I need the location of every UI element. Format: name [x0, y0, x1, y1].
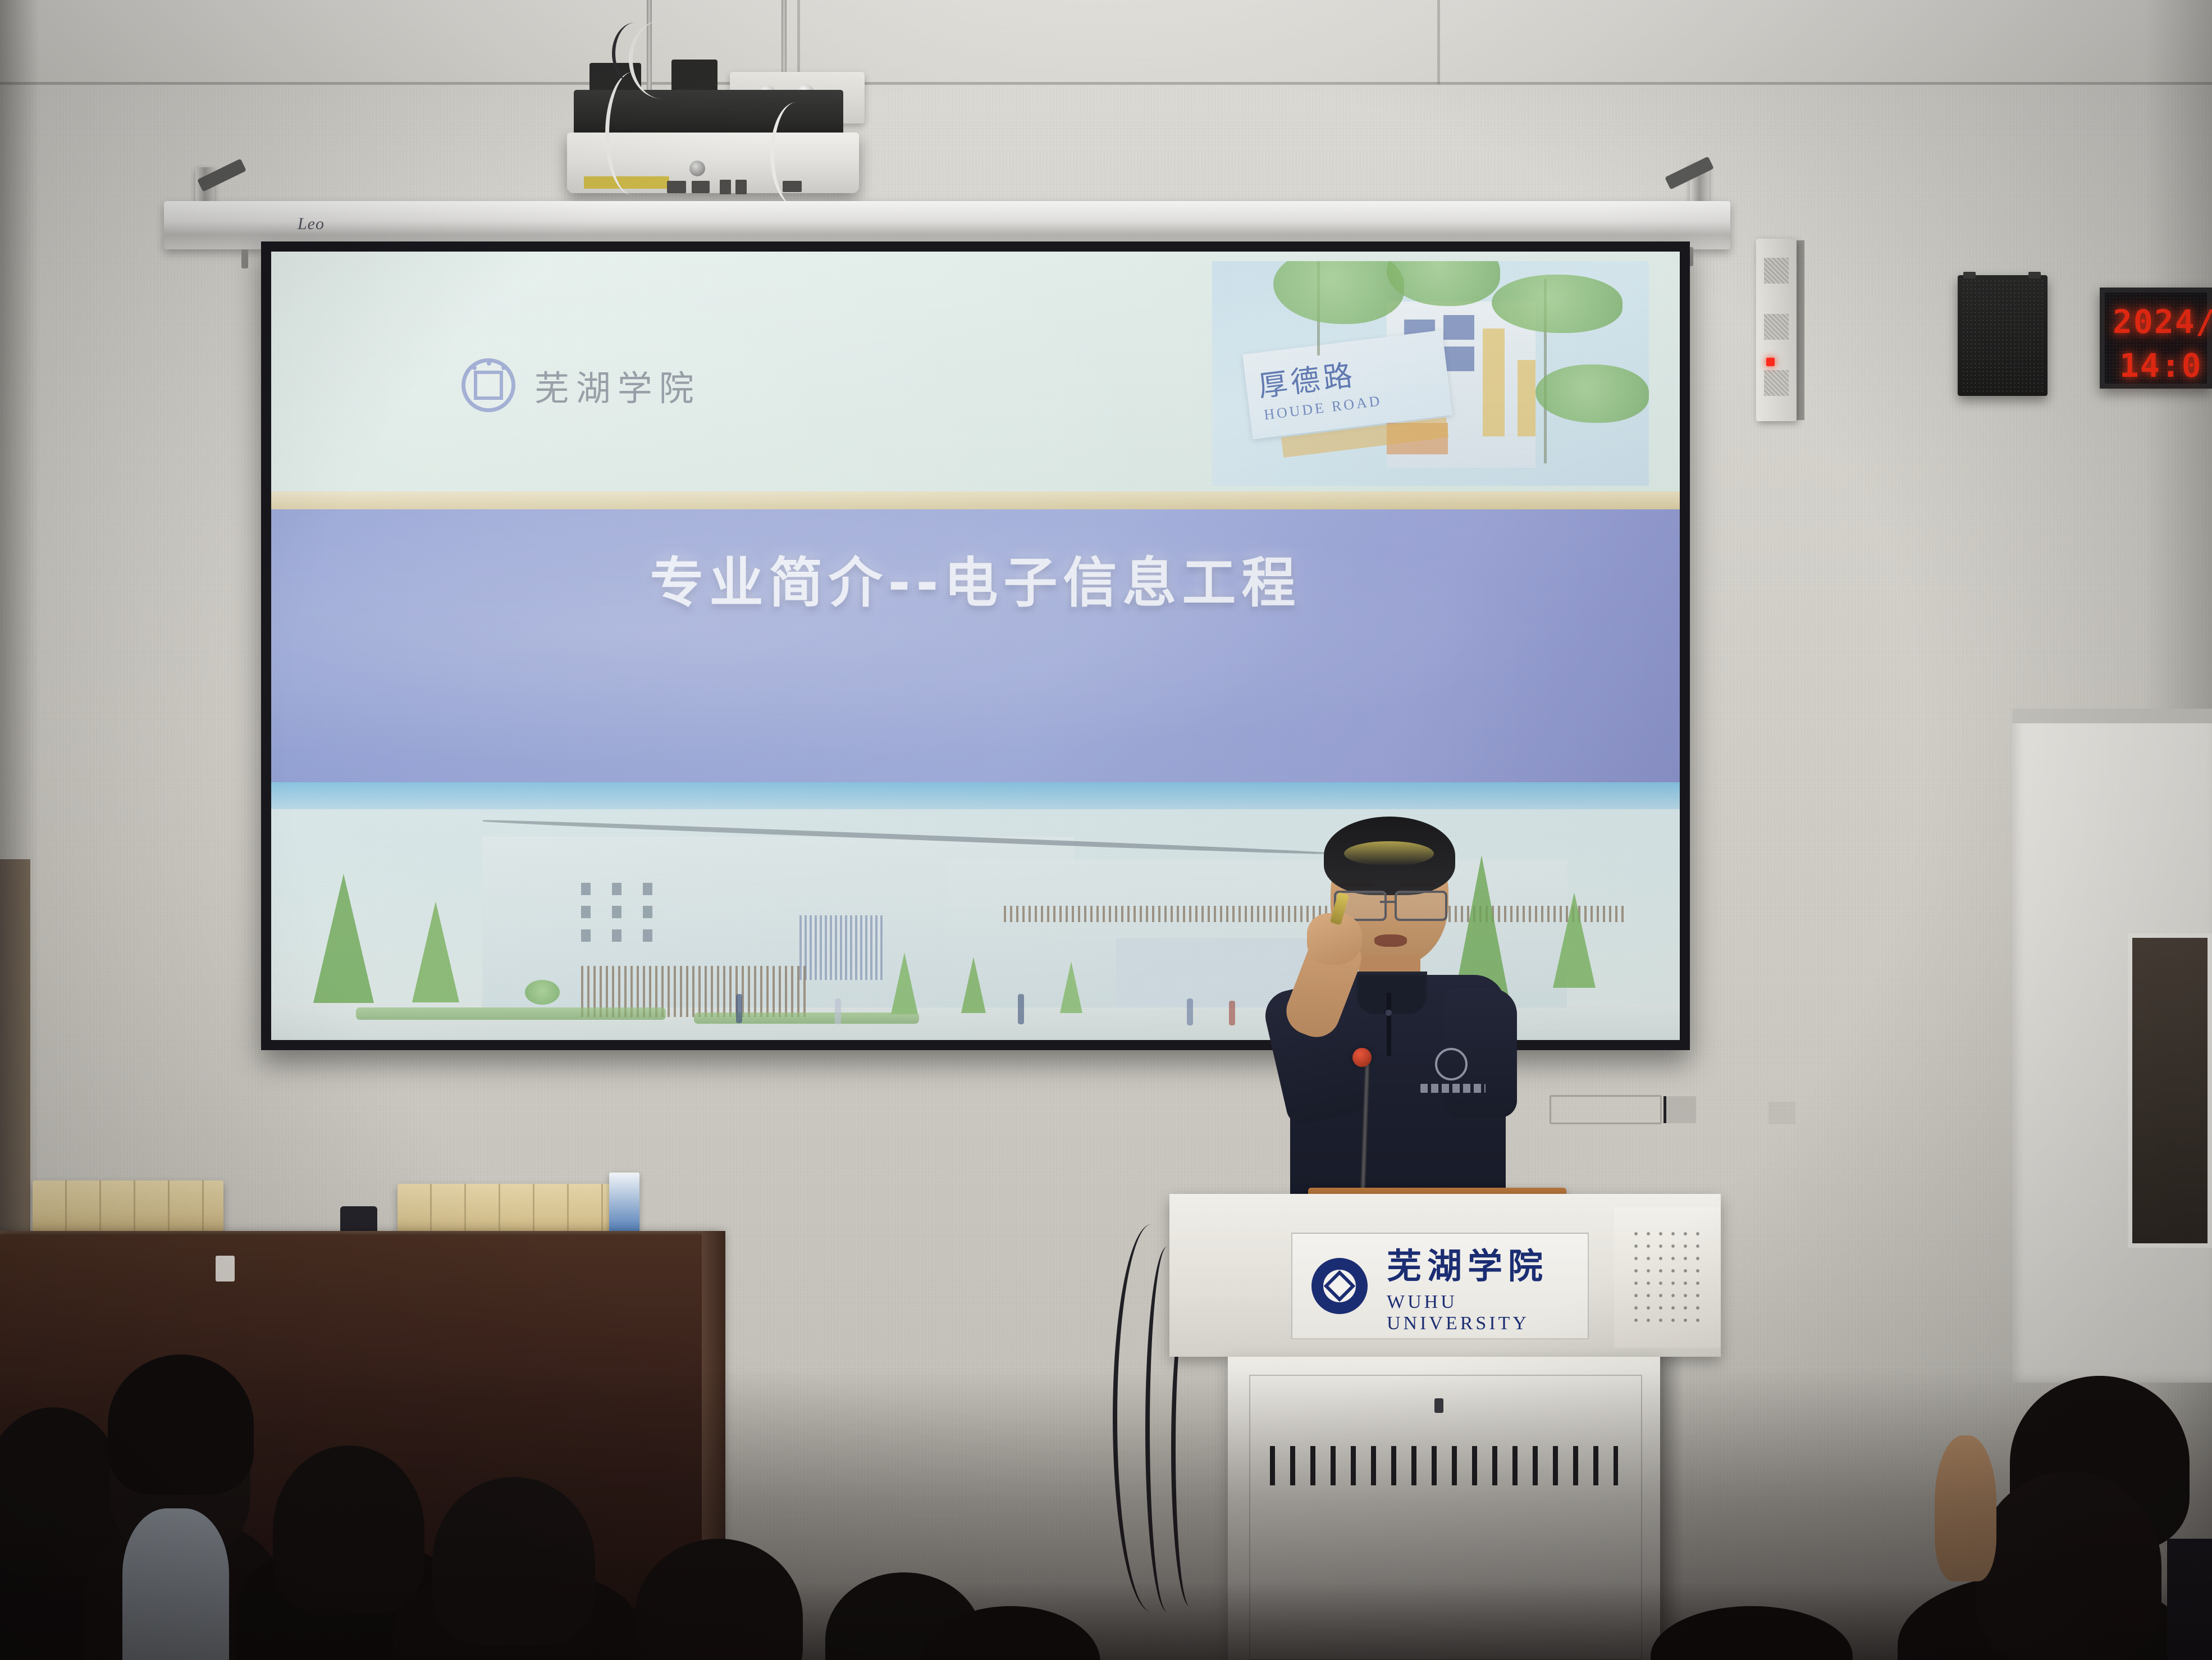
campus-window	[612, 906, 621, 918]
ceiling-seam	[0, 82, 2212, 85]
campus-window	[581, 883, 591, 895]
presenter-forehead-highlight	[1344, 841, 1434, 866]
speaker-mount-tab-right	[2028, 272, 2041, 279]
campus-conifer-5	[891, 952, 918, 1014]
campus-lattice-panel	[799, 915, 884, 980]
audience-member-torso	[2167, 1539, 2212, 1660]
projector-cable-dark	[612, 22, 659, 84]
alcove-lintel	[2012, 709, 2212, 723]
photo-tree-4	[1535, 364, 1649, 423]
photo-yellow-pole	[1483, 329, 1505, 436]
ceiling-band	[0, 0, 2212, 84]
presenter-shirt-emblem-text	[1420, 1084, 1486, 1093]
podium-university-emblem-icon	[1311, 1258, 1368, 1314]
status-led-icon	[1766, 358, 1775, 366]
projector-port-1	[667, 181, 686, 193]
projector-port-3	[720, 180, 731, 194]
campus-figure-3	[1018, 994, 1024, 1024]
campus-figure-1	[736, 994, 742, 1023]
podium-name-en: WUHU UNIVERSITY	[1387, 1292, 1588, 1334]
microphone-head-icon	[1352, 1048, 1372, 1067]
audience-member-head-front	[1976, 1471, 2161, 1660]
projector-port-4	[735, 180, 747, 194]
wall-outlet-plate-1[interactable]	[1550, 1095, 1662, 1124]
campus-window	[581, 906, 591, 918]
box-flap-lines	[33, 1180, 223, 1237]
screen-screw-left	[241, 249, 248, 268]
podium-nameplate-text: 芜湖学院 WUHU UNIVERSITY	[1387, 1238, 1588, 1334]
cardboard-box-left	[33, 1180, 223, 1237]
wall-outlet-plate-2[interactable]	[1663, 1096, 1696, 1123]
projector-port-2	[692, 181, 710, 193]
led-clock-display: 2024/ 14:0	[2100, 288, 2212, 389]
control-panel-grille-2	[1764, 314, 1789, 340]
presenter-mouth	[1374, 934, 1407, 947]
projector-cable-2	[605, 72, 661, 195]
campus-conifer-7	[1060, 961, 1082, 1013]
campus-window	[643, 929, 652, 942]
campus-conifer-4	[1553, 892, 1596, 988]
presenter-polo-button	[1386, 1010, 1392, 1016]
campus-hedge-1	[356, 1007, 666, 1020]
left-wall-panel	[0, 859, 30, 1241]
slide-title: 专业简介--电子信息工程	[271, 539, 1680, 617]
campus-window	[612, 883, 621, 895]
speaker-grille-icon	[1962, 279, 2044, 392]
control-panel-grille-3	[1764, 370, 1789, 396]
campus-window	[581, 929, 591, 942]
photo-tree-2	[1387, 261, 1500, 306]
presenter-shirt-emblem-icon	[1435, 1048, 1468, 1080]
campus-shrub-1	[525, 980, 560, 1005]
university-emblem-icon	[461, 358, 515, 412]
control-panel-grille-1	[1764, 258, 1789, 284]
presenter-polo-collar	[1356, 972, 1427, 1014]
photo-tree-1	[1273, 261, 1404, 324]
audience-member-hair	[108, 1355, 254, 1495]
audience-member-shirt	[122, 1508, 229, 1660]
audience-member-head	[432, 1477, 595, 1645]
photo-window-2	[1443, 315, 1474, 340]
wall-outlet-plate-3[interactable]	[1768, 1102, 1795, 1124]
audience-raised-hand	[1935, 1435, 1996, 1581]
alcove-window	[2128, 933, 2212, 1248]
blue-package	[609, 1173, 639, 1240]
presenter-brow-left	[1340, 883, 1374, 887]
presenter-brow-right	[1400, 883, 1435, 887]
speaker-mount-tab-left	[1963, 272, 1976, 279]
wall-control-panel[interactable]	[1756, 239, 1797, 421]
led-clock-time: 14:0	[2119, 346, 2202, 385]
campus-conifer-1	[412, 901, 459, 1002]
campus-hedge-2	[694, 1013, 919, 1024]
slide-gold-divider	[271, 491, 1680, 509]
slide-footer-sky-strip	[271, 782, 1680, 809]
podium-speaker-grille-icon	[1630, 1228, 1705, 1328]
audience-member-head	[273, 1445, 424, 1614]
photo-yellow-pole-2	[1518, 360, 1535, 436]
presenter-glasses-right-lens	[1395, 891, 1447, 921]
projector-rod-right	[781, 0, 787, 74]
campus-conifer-6	[961, 957, 986, 1013]
campus-figure-4	[1187, 998, 1193, 1025]
wall-speaker	[1958, 275, 2048, 396]
slide-logo-text: 芜湖学院	[534, 360, 701, 411]
photo-window-4	[1443, 346, 1474, 371]
podium-right-speaker-panel	[1614, 1207, 1721, 1348]
projector-cable-3	[770, 102, 822, 207]
presenter	[1224, 824, 1538, 1217]
campus-figure-2	[835, 998, 841, 1024]
podium-ventilation-slots	[1270, 1446, 1618, 1485]
control-panel-shadow	[1797, 240, 1804, 420]
lecture-hall-photo: Leo 芜湖学院	[0, 0, 2212, 1660]
campus-window	[612, 929, 621, 942]
led-clock-date: 2024/	[2113, 303, 2212, 341]
podium-cabinet-lock-icon[interactable]	[1434, 1398, 1443, 1413]
campus-window	[643, 883, 652, 895]
campus-window	[643, 906, 652, 918]
slide-logo-lockup: 芜湖学院	[461, 358, 701, 412]
desk-label-tag	[216, 1256, 235, 1282]
podium-nameplate: 芜湖学院 WUHU UNIVERSITY	[1291, 1233, 1589, 1339]
presenter-polo-placket	[1387, 993, 1391, 1056]
ceiling-seam-vertical-2	[1437, 0, 1440, 84]
campus-conifer-2	[313, 874, 374, 1003]
slide-photo-houde-road: 厚德路 HOUDE ROAD	[1212, 261, 1649, 486]
presenter-glasses-bridge	[1380, 901, 1397, 903]
projector-lens-icon	[689, 161, 705, 176]
roller-brand-label: Leo	[298, 215, 325, 234]
podium-name-cn: 芜湖学院	[1387, 1238, 1588, 1288]
